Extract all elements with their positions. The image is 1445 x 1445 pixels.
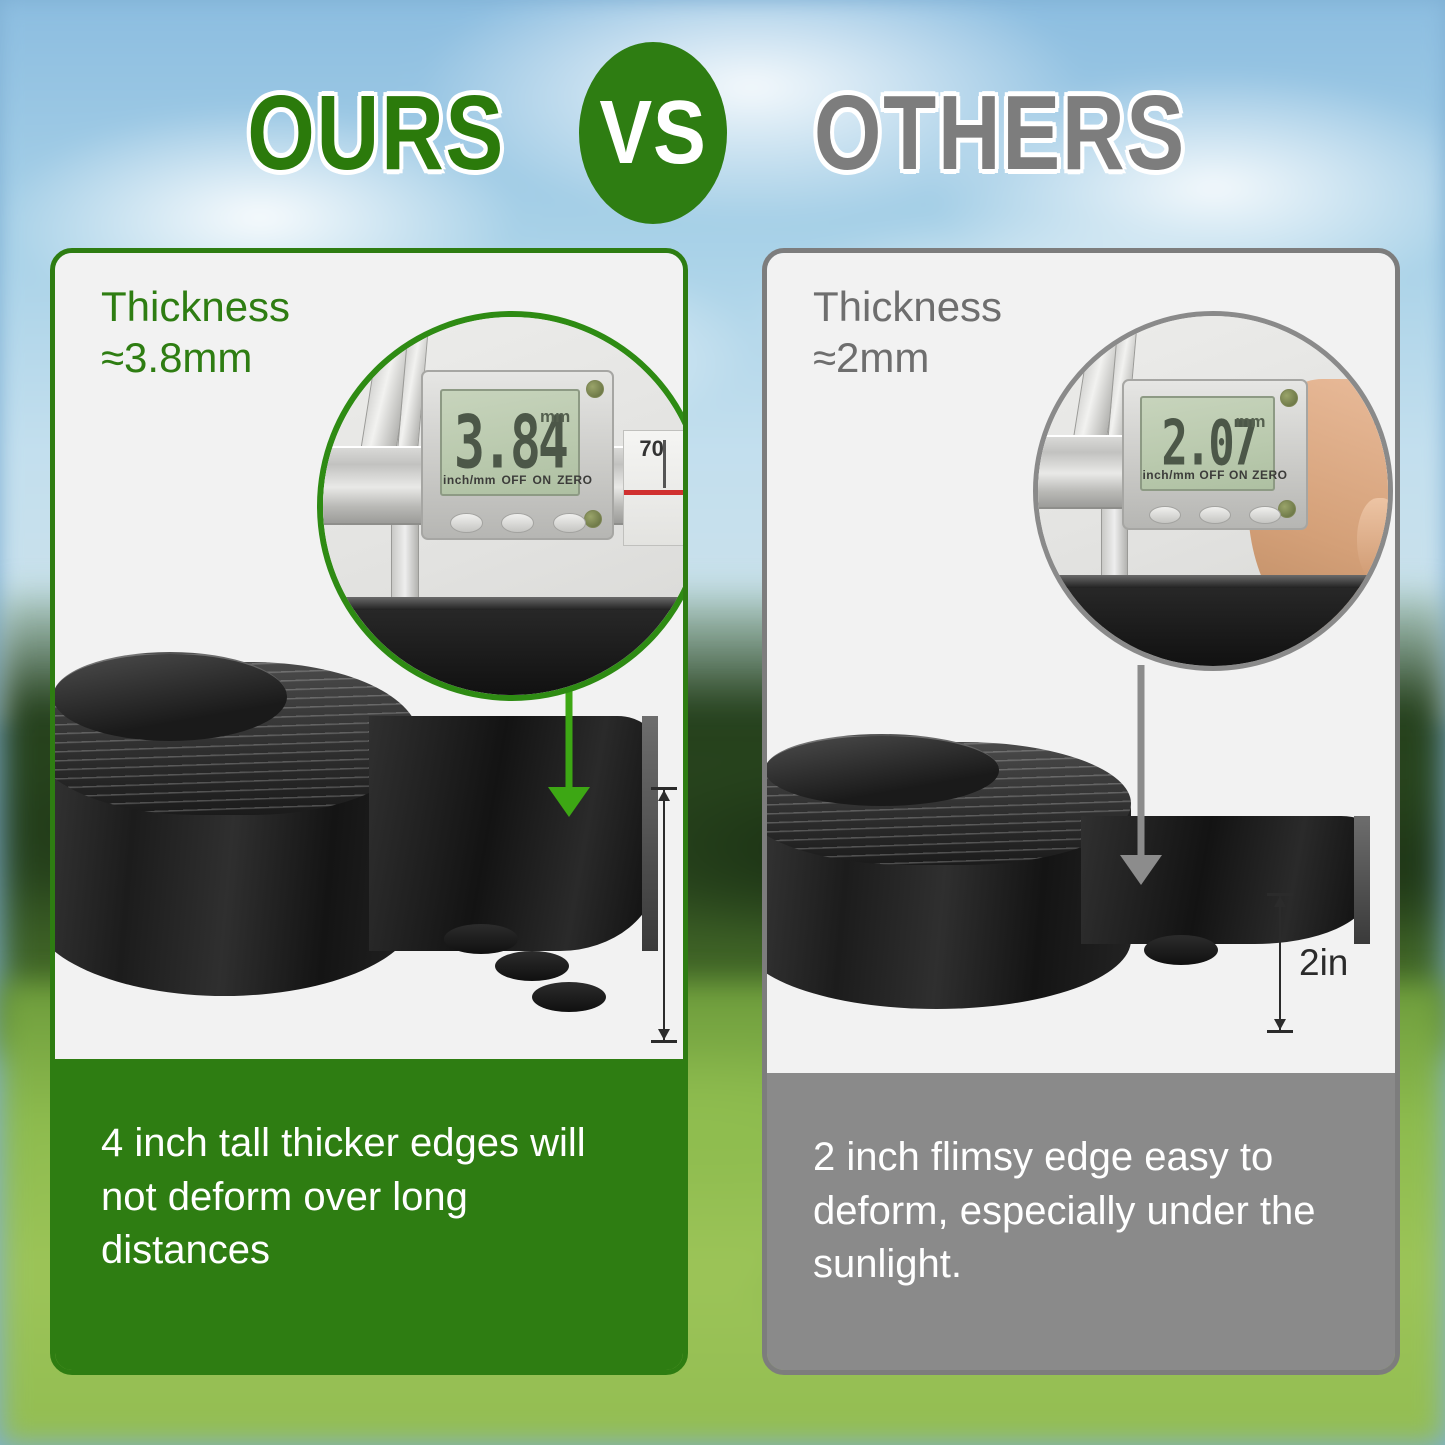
caliper-key-label-zero: ZERO (1252, 468, 1287, 482)
caliper-key-label-on: ON (1229, 468, 1248, 482)
thickness-label-others: Thickness ≈2mm (813, 281, 1002, 383)
edging-coil-others (767, 742, 1131, 1008)
anchor-stake (532, 982, 606, 1012)
edging-specimen-others (1038, 575, 1388, 666)
caliper-button-zero[interactable] (1249, 506, 1281, 524)
pointer-arrow-head (1120, 855, 1162, 885)
caliper-head-ours: 3.84 mm inch/mm OFF ON ZERO (421, 370, 614, 540)
vs-label: VS (599, 88, 706, 178)
product-image-others (767, 614, 1395, 1073)
panel-others: Thickness ≈2mm DELIXI 德力西 (762, 248, 1400, 1375)
caliper-button-onoff[interactable] (1199, 506, 1231, 524)
pointer-arrow-others (1119, 665, 1163, 885)
caliper-key-labels: inch/mm OFF ON ZERO (1140, 468, 1289, 482)
caliper-scale: 70 (623, 430, 683, 545)
dimension-arrow-up (1274, 896, 1286, 907)
thickness-label-ours: Thickness ≈3.8mm (101, 281, 290, 383)
caliper-button-zero[interactable] (553, 513, 586, 533)
caption-others: 2 inch flimsy edge easy to deform, espec… (767, 1073, 1395, 1370)
caliper-photo-ours: DELIXI 德力西 70 3.84 mm (323, 317, 683, 695)
caliper-buttons[interactable] (1140, 485, 1289, 523)
thumb (1357, 498, 1393, 581)
dimension-line (663, 787, 665, 1043)
coil-inner-opening (55, 652, 287, 741)
caliper-key-label-zero: ZERO (557, 473, 592, 487)
caliper-unit-others: mm (1235, 412, 1265, 432)
photo-area-ours: Thickness ≈3.8mm DELIXI 德力西 70 (55, 253, 683, 1059)
vs-badge: VS (579, 42, 727, 224)
header-others-label: OTHERS (814, 80, 1186, 186)
header-ours-label: OURS (247, 80, 505, 186)
dimension-line (1279, 893, 1281, 1033)
magnifier-circle-others: DELIXI 德力西 2.07 mm (1033, 311, 1393, 671)
caliper-key-labels: inch/mm OFF ON ZERO (440, 473, 595, 487)
caliper-key-label-off: OFF (1199, 468, 1225, 482)
dimension-label-others: 2in (1299, 942, 1348, 984)
specimen-top-edge (1038, 575, 1388, 588)
caliper-photo-others: DELIXI 德力西 2.07 mm (1038, 316, 1388, 666)
caption-ours: 4 inch tall thicker edges will not defor… (55, 1059, 683, 1370)
caliper-buttons[interactable] (440, 490, 595, 533)
caliper-key-label-on: ON (533, 473, 552, 487)
anchor-stake (444, 924, 518, 954)
anchor-stake (495, 951, 569, 981)
edging-specimen-ours (323, 597, 683, 695)
caliper-key-label-off: OFF (501, 473, 527, 487)
caliper-button-onoff[interactable] (501, 513, 534, 533)
dimension-cap-bottom (651, 1040, 677, 1043)
comparison-header: OURS VS OTHERS (0, 58, 1445, 208)
caliper-key-label-inchmm: inch/mm (1142, 468, 1195, 482)
caliper-scale-tick (663, 440, 666, 488)
dimension-arrow-up (658, 790, 670, 801)
caliper-head-others: 2.07 mm inch/mm OFF ON ZERO (1122, 379, 1308, 530)
dimension-marker-ours: 4in (649, 787, 679, 1043)
magnifier-circle-ours: DELIXI 德力西 70 3.84 mm (317, 311, 683, 701)
caliper-unit-ours: mm (540, 407, 570, 427)
caliper-scale-number: 70 (639, 436, 663, 462)
caliper-button-inchmm[interactable] (450, 513, 483, 533)
edging-tail-cross-section (1354, 816, 1370, 945)
anchor-stake (1144, 935, 1218, 965)
edging-tail-ours (369, 716, 658, 951)
pointer-arrow-shaft (1138, 665, 1145, 857)
caliper-key-label-inchmm: inch/mm (443, 473, 496, 487)
specimen-top-edge (323, 597, 683, 611)
caliper-scale-redline (624, 490, 683, 495)
caliper-screw-top (586, 380, 604, 398)
dimension-arrow-down (1274, 1019, 1286, 1030)
pointer-arrow-head (548, 787, 590, 817)
panel-ours: Thickness ≈3.8mm DELIXI 德力西 70 (50, 248, 688, 1375)
edging-coil-ours (55, 662, 419, 996)
caliper-screw-top (1280, 389, 1298, 407)
dimension-cap-bottom (1267, 1030, 1293, 1033)
dimension-arrow-down (658, 1029, 670, 1040)
coil-inner-opening (767, 734, 999, 805)
dimension-marker-others: 2in (1265, 893, 1295, 1033)
caliper-button-inchmm[interactable] (1149, 506, 1181, 524)
photo-area-others: Thickness ≈2mm DELIXI 德力西 (767, 253, 1395, 1073)
